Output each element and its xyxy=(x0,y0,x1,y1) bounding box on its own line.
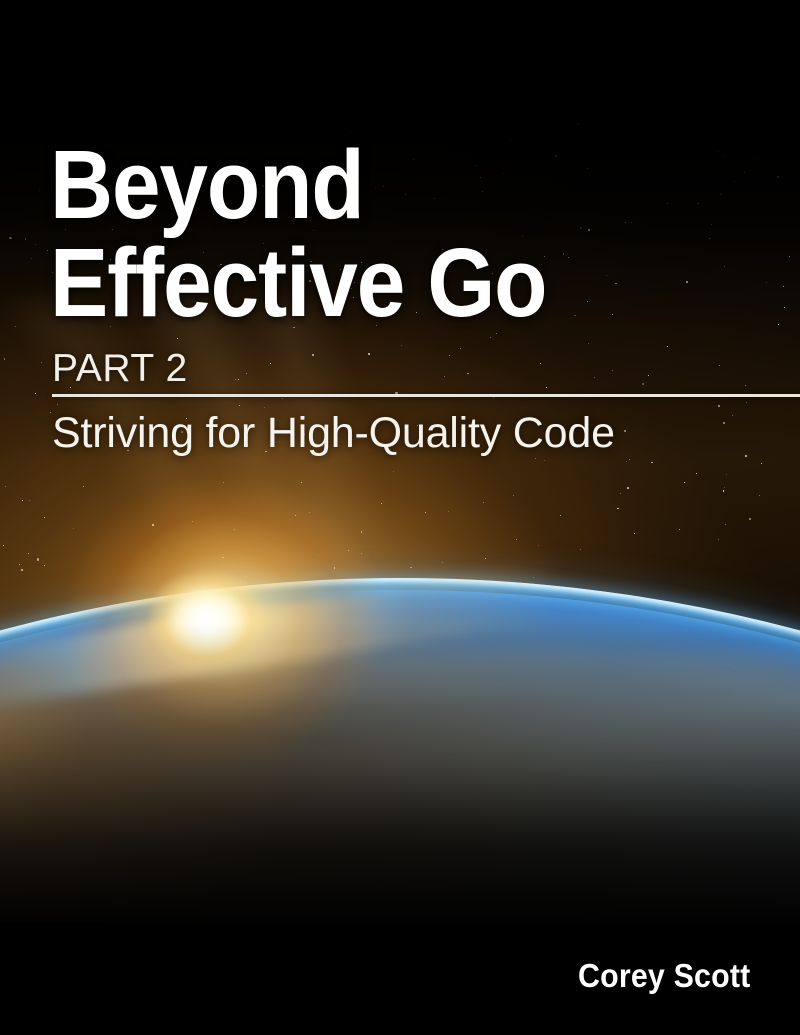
book-subtitle: Striving for High-Quality Code xyxy=(52,408,615,458)
cover-text-layer: Beyond Effective Go PART 2 Striving for … xyxy=(0,0,800,1035)
book-title: Beyond Effective Go xyxy=(50,136,770,332)
author-name: Corey Scott xyxy=(578,958,750,994)
part-label: PART 2 xyxy=(52,348,188,390)
title-line-2: Effective Go xyxy=(50,234,698,332)
title-line-1: Beyond xyxy=(50,136,698,234)
title-divider-rule xyxy=(52,394,800,397)
book-cover: Beyond Effective Go PART 2 Striving for … xyxy=(0,0,800,1035)
